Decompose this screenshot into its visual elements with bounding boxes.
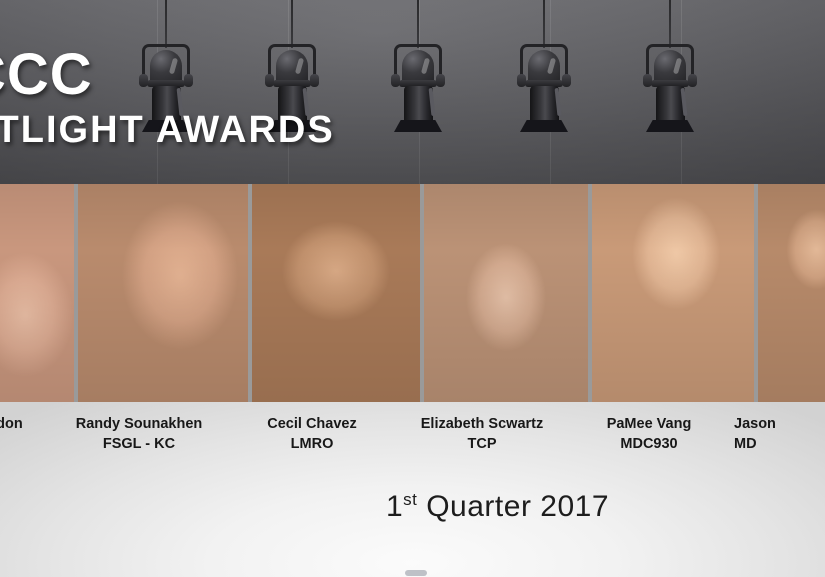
honoree-photo <box>758 184 825 402</box>
honoree-photo <box>592 184 754 402</box>
honoree-photo <box>0 184 74 402</box>
honoree-photo <box>78 184 248 402</box>
honoree-caption-row: eeldonORandy SounakhenFSGL - KCCecil Cha… <box>0 414 825 466</box>
honoree-name: eeldon <box>0 414 50 434</box>
quarter-number: 1 <box>386 490 403 523</box>
title-sub-text: OTLIGHT AWARDS <box>0 108 335 152</box>
quarter-suffix: st <box>403 490 417 509</box>
scroll-indicator-pill[interactable] <box>405 570 427 576</box>
award-slide: CCC OTLIGHT AWARDS eeldonORandy Sounakhe… <box>0 0 825 577</box>
honoree-dept: MDC930 <box>568 434 730 454</box>
quarter-rest: Quarter 2017 <box>417 490 609 523</box>
honoree-dept: FSGL - KC <box>54 434 224 454</box>
honoree-name: PaMee Vang <box>568 414 730 434</box>
honoree-caption: Elizabeth ScwartzTCP <box>400 414 564 466</box>
honoree-dept: MD <box>734 434 813 454</box>
honoree-caption: Randy SounakhenFSGL - KC <box>54 414 224 466</box>
honoree-caption: JasonMD <box>734 414 813 466</box>
honoree-name: Elizabeth Scwartz <box>400 414 564 434</box>
honoree-name: Jason <box>734 414 813 434</box>
honoree-caption: PaMee VangMDC930 <box>568 414 730 466</box>
honoree-dept: TCP <box>400 434 564 454</box>
title-main-text: CCC <box>0 46 335 104</box>
quarter-label: 1st Quarter 2017 <box>0 490 825 524</box>
honoree-name: Randy Sounakhen <box>54 414 224 434</box>
honoree-caption: Cecil ChavezLMRO <box>228 414 396 466</box>
honoree-photo <box>424 184 588 402</box>
honoree-photo <box>252 184 420 402</box>
honoree-photo-strip <box>0 184 825 402</box>
honoree-caption: eeldonO <box>0 414 50 466</box>
honoree-dept: LMRO <box>228 434 396 454</box>
slide-banner: CCC OTLIGHT AWARDS <box>0 0 825 184</box>
honoree-name: Cecil Chavez <box>228 414 396 434</box>
slide-title: CCC OTLIGHT AWARDS <box>0 46 335 152</box>
honoree-dept: O <box>0 434 50 454</box>
